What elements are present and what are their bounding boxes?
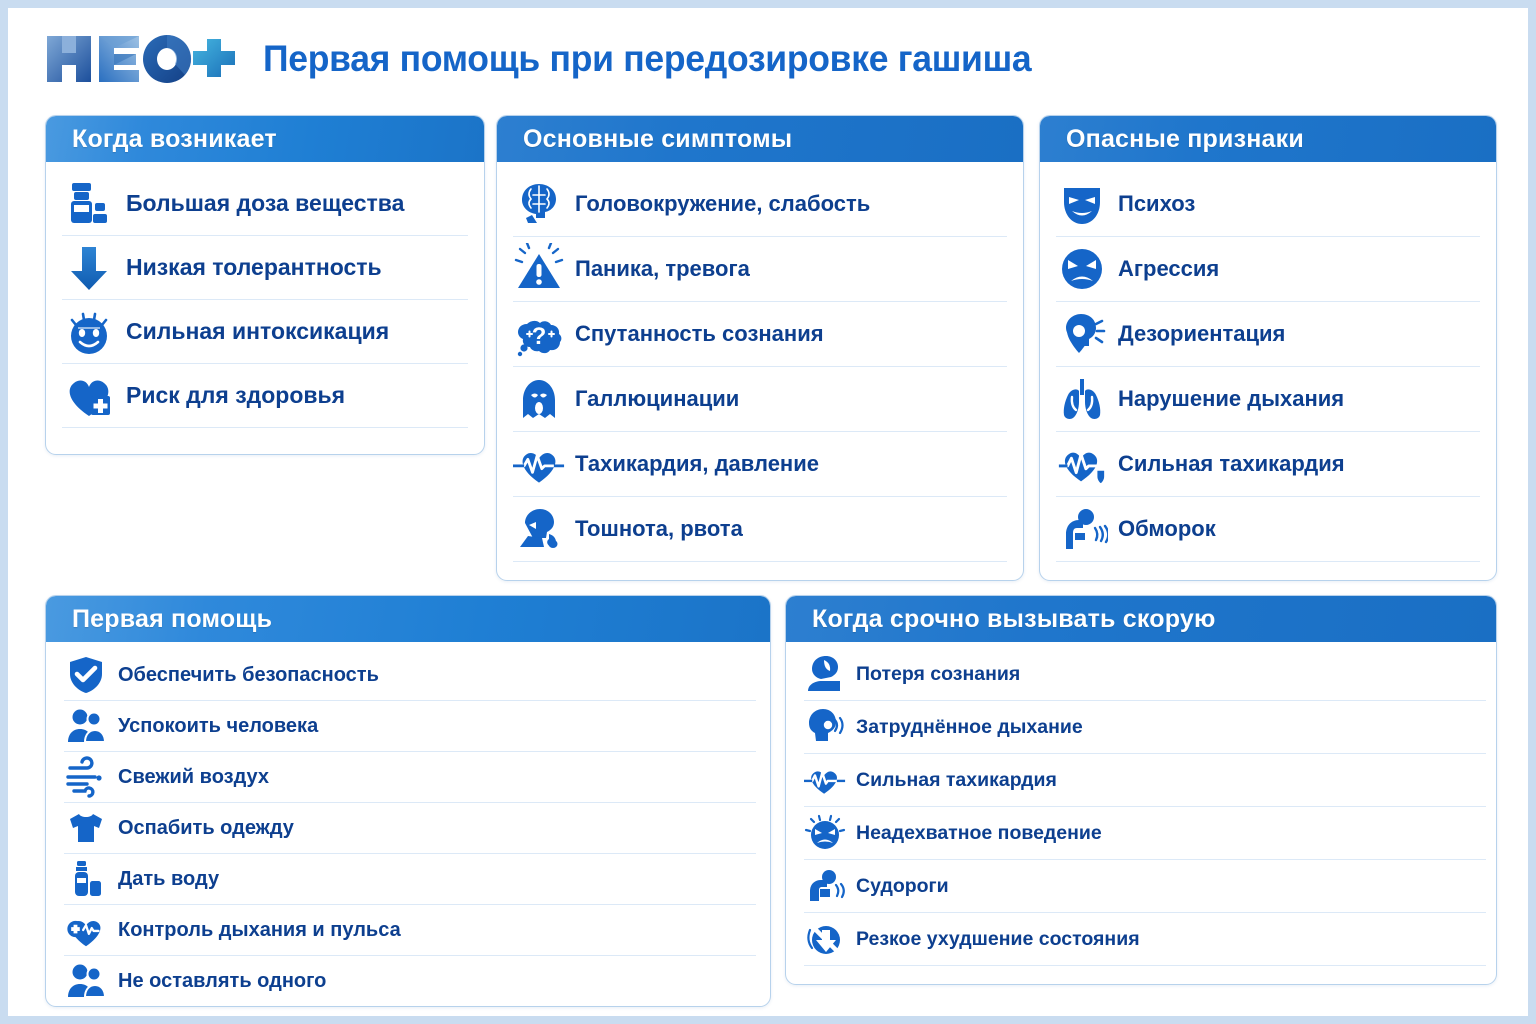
card-header: Когда возникает bbox=[46, 116, 484, 162]
fainting-person-icon bbox=[1056, 503, 1108, 555]
water-bottle-icon bbox=[64, 857, 108, 901]
heart-pulse-icon bbox=[804, 759, 846, 801]
list-item-label: Сильная тахикардия bbox=[1118, 452, 1345, 475]
warning-triangle-icon bbox=[513, 243, 565, 295]
ghost-icon bbox=[513, 373, 565, 425]
card-body: Потеря сознания Затруднённое дыхание bbox=[786, 642, 1496, 985]
card-header: Когда срочно вызывать скорую bbox=[786, 596, 1496, 642]
list-item-label: Риск для здоровья bbox=[126, 383, 345, 407]
heart-cross-pulse-icon bbox=[64, 908, 108, 952]
list-item[interactable]: Не оставлять одного bbox=[64, 956, 756, 1007]
list-item[interactable]: Успокоить человека bbox=[64, 701, 756, 752]
list-item[interactable]: Нарушение дыхания bbox=[1056, 367, 1480, 432]
list-item-label: Дать воду bbox=[118, 869, 219, 890]
card-header: Основные симптомы bbox=[497, 116, 1023, 162]
tshirt-icon bbox=[64, 806, 108, 850]
list-item-label: Обеспечить безопасность bbox=[118, 665, 379, 686]
list-item[interactable]: Сильная тахикардия bbox=[1056, 432, 1480, 497]
list-item-label: Нарушение дыхания bbox=[1118, 387, 1344, 410]
list-item[interactable]: Неадехватное поведение bbox=[804, 807, 1486, 860]
infographic-page: Первая помощь при передозировке гашиша К… bbox=[8, 8, 1528, 1016]
list-item[interactable]: ? Спутанность сознания bbox=[513, 302, 1007, 367]
list-item[interactable]: Тошнота, рвота bbox=[513, 497, 1007, 562]
list-item-label: Сильная интоксикация bbox=[126, 319, 389, 343]
card-title: Когда возникает bbox=[72, 125, 277, 154]
list-item[interactable]: Дезориентация bbox=[1056, 302, 1480, 367]
list-item-label: Спутанность сознания bbox=[575, 322, 824, 345]
list-item[interactable]: Судороги bbox=[804, 860, 1486, 913]
shield-check-icon bbox=[64, 653, 108, 697]
heart-cross-icon bbox=[62, 369, 116, 423]
first-aid-list: Обеспечить безопасность Успокоить челове… bbox=[46, 642, 770, 1007]
list-item-label: Не оставлять одного bbox=[118, 971, 326, 992]
card-title: Основные симптомы bbox=[523, 125, 792, 154]
card-danger-signs: Опасные признаки Психоз bbox=[1039, 115, 1497, 581]
card-body: Обеспечить безопасность Успокоить челове… bbox=[46, 642, 770, 1007]
list-item-label: Свежий воздух bbox=[118, 767, 269, 788]
angry-face-rays-icon bbox=[804, 812, 846, 854]
list-item[interactable]: Риск для здоровья bbox=[62, 364, 468, 428]
list-item-label: Обморок bbox=[1118, 517, 1216, 540]
two-people-icon bbox=[64, 959, 108, 1003]
thought-question-icon: ? bbox=[513, 308, 565, 360]
neo-plus-logo-icon bbox=[45, 30, 245, 88]
list-item-label: Большая доза вещества bbox=[126, 191, 404, 215]
list-item-label: Судороги bbox=[856, 876, 949, 896]
list-item[interactable]: Тахикардия, давление bbox=[513, 432, 1007, 497]
list-item-label: Резкое ухудшение состояния bbox=[856, 929, 1140, 949]
angry-face-icon bbox=[1056, 243, 1108, 295]
brain-head-icon bbox=[513, 178, 565, 230]
vomiting-head-icon bbox=[513, 503, 565, 555]
list-item-label: Успокоить человека bbox=[118, 716, 318, 737]
wind-icon bbox=[64, 755, 108, 799]
head-location-pin-icon bbox=[1056, 308, 1108, 360]
heart-pulse-icon bbox=[513, 438, 565, 490]
list-item[interactable]: Галлюцинации bbox=[513, 367, 1007, 432]
list-item[interactable]: Оспабить одежду bbox=[64, 803, 756, 854]
list-item-label: Оспабить одежду bbox=[118, 818, 294, 839]
no-entry-down-icon bbox=[804, 918, 846, 960]
list-item[interactable]: Паника, тревога bbox=[513, 237, 1007, 302]
evil-mask-icon bbox=[1056, 178, 1108, 230]
list-item[interactable]: Агрессия bbox=[1056, 237, 1480, 302]
list-item[interactable]: Психоз bbox=[1056, 172, 1480, 237]
emergency-list: Потеря сознания Затруднённое дыхание bbox=[786, 642, 1496, 985]
dizzy-face-icon bbox=[62, 305, 116, 359]
list-item-label: Затруднённое дыхание bbox=[856, 717, 1083, 737]
list-item-label: Низкая толерантность bbox=[126, 255, 382, 279]
list-item-label: Агрессия bbox=[1118, 257, 1219, 280]
seizure-person-icon bbox=[804, 865, 846, 907]
list-item[interactable]: Обеспечить безопасность bbox=[64, 650, 756, 701]
list-item-label: Тахикардия, давление bbox=[575, 452, 819, 475]
list-item-label: Паника, тревога bbox=[575, 257, 750, 280]
list-item-label: Галлюцинации bbox=[575, 387, 739, 410]
list-item[interactable]: Свежий воздух bbox=[64, 752, 756, 803]
breathing-difficulty-icon bbox=[804, 706, 846, 748]
card-title: Когда срочно вызывать скорую bbox=[812, 605, 1216, 634]
list-item[interactable]: Сильная тахикардия bbox=[804, 754, 1486, 807]
card-body: Большая доза вещества Низкая толерантнос… bbox=[46, 162, 484, 440]
card-when-occurs: Когда возникает Большая доза вещества bbox=[45, 115, 485, 455]
unconscious-head-icon bbox=[804, 653, 846, 695]
list-item[interactable]: Головокружение, слабость bbox=[513, 172, 1007, 237]
down-arrow-icon bbox=[62, 241, 116, 295]
pill-bottle-icon bbox=[62, 177, 116, 231]
list-item[interactable]: Контроль дыхания и пульса bbox=[64, 905, 756, 956]
lungs-icon bbox=[1056, 373, 1108, 425]
list-item-label: Психоз bbox=[1118, 192, 1195, 215]
two-people-icon bbox=[64, 704, 108, 748]
page-header: Первая помощь при передозировке гашиша bbox=[45, 23, 1063, 95]
card-call-ambulance: Когда срочно вызывать скорую Потеря созн… bbox=[785, 595, 1497, 985]
list-item-label: Контроль дыхания и пульса bbox=[118, 920, 401, 941]
card-main-symptoms: Основные симптомы Головокружение, сла bbox=[496, 115, 1024, 581]
card-header: Первая помощь bbox=[46, 596, 770, 642]
list-item-label: Неадехватное поведение bbox=[856, 823, 1102, 843]
list-item[interactable]: Потеря сознания bbox=[804, 648, 1486, 701]
list-item[interactable]: Резкое ухудшение состояния bbox=[804, 913, 1486, 966]
list-item[interactable]: Дать воду bbox=[64, 854, 756, 905]
card-header: Опасные признаки bbox=[1040, 116, 1496, 162]
list-item[interactable]: Обморок bbox=[1056, 497, 1480, 562]
card-body: Головокружение, слабость Паника, тревога bbox=[497, 162, 1023, 574]
card-title: Первая помощь bbox=[72, 605, 272, 634]
list-item-label: Потеря сознания bbox=[856, 664, 1020, 684]
list-item-label: Сильная тахикардия bbox=[856, 770, 1057, 790]
list-item-label: Головокружение, слабость bbox=[575, 192, 870, 215]
card-first-aid: Первая помощь Обеспечить безопасность bbox=[45, 595, 771, 1007]
card-body: Психоз Агрессия bbox=[1040, 162, 1496, 574]
svg-text:?: ? bbox=[532, 323, 547, 350]
card-title: Опасные признаки bbox=[1066, 125, 1304, 154]
list-item-label: Тошнота, рвота bbox=[575, 517, 743, 540]
list-item[interactable]: Затруднённое дыхание bbox=[804, 701, 1486, 754]
page-title: Первая помощь при передозировке гашиша bbox=[263, 38, 1031, 80]
list-item[interactable]: Сильная интоксикация bbox=[62, 300, 468, 364]
list-item[interactable]: Низкая толерантность bbox=[62, 236, 468, 300]
list-item[interactable]: Большая доза вещества bbox=[62, 172, 468, 236]
heart-pulse-shield-icon bbox=[1056, 438, 1108, 490]
list-item-label: Дезориентация bbox=[1118, 322, 1285, 345]
